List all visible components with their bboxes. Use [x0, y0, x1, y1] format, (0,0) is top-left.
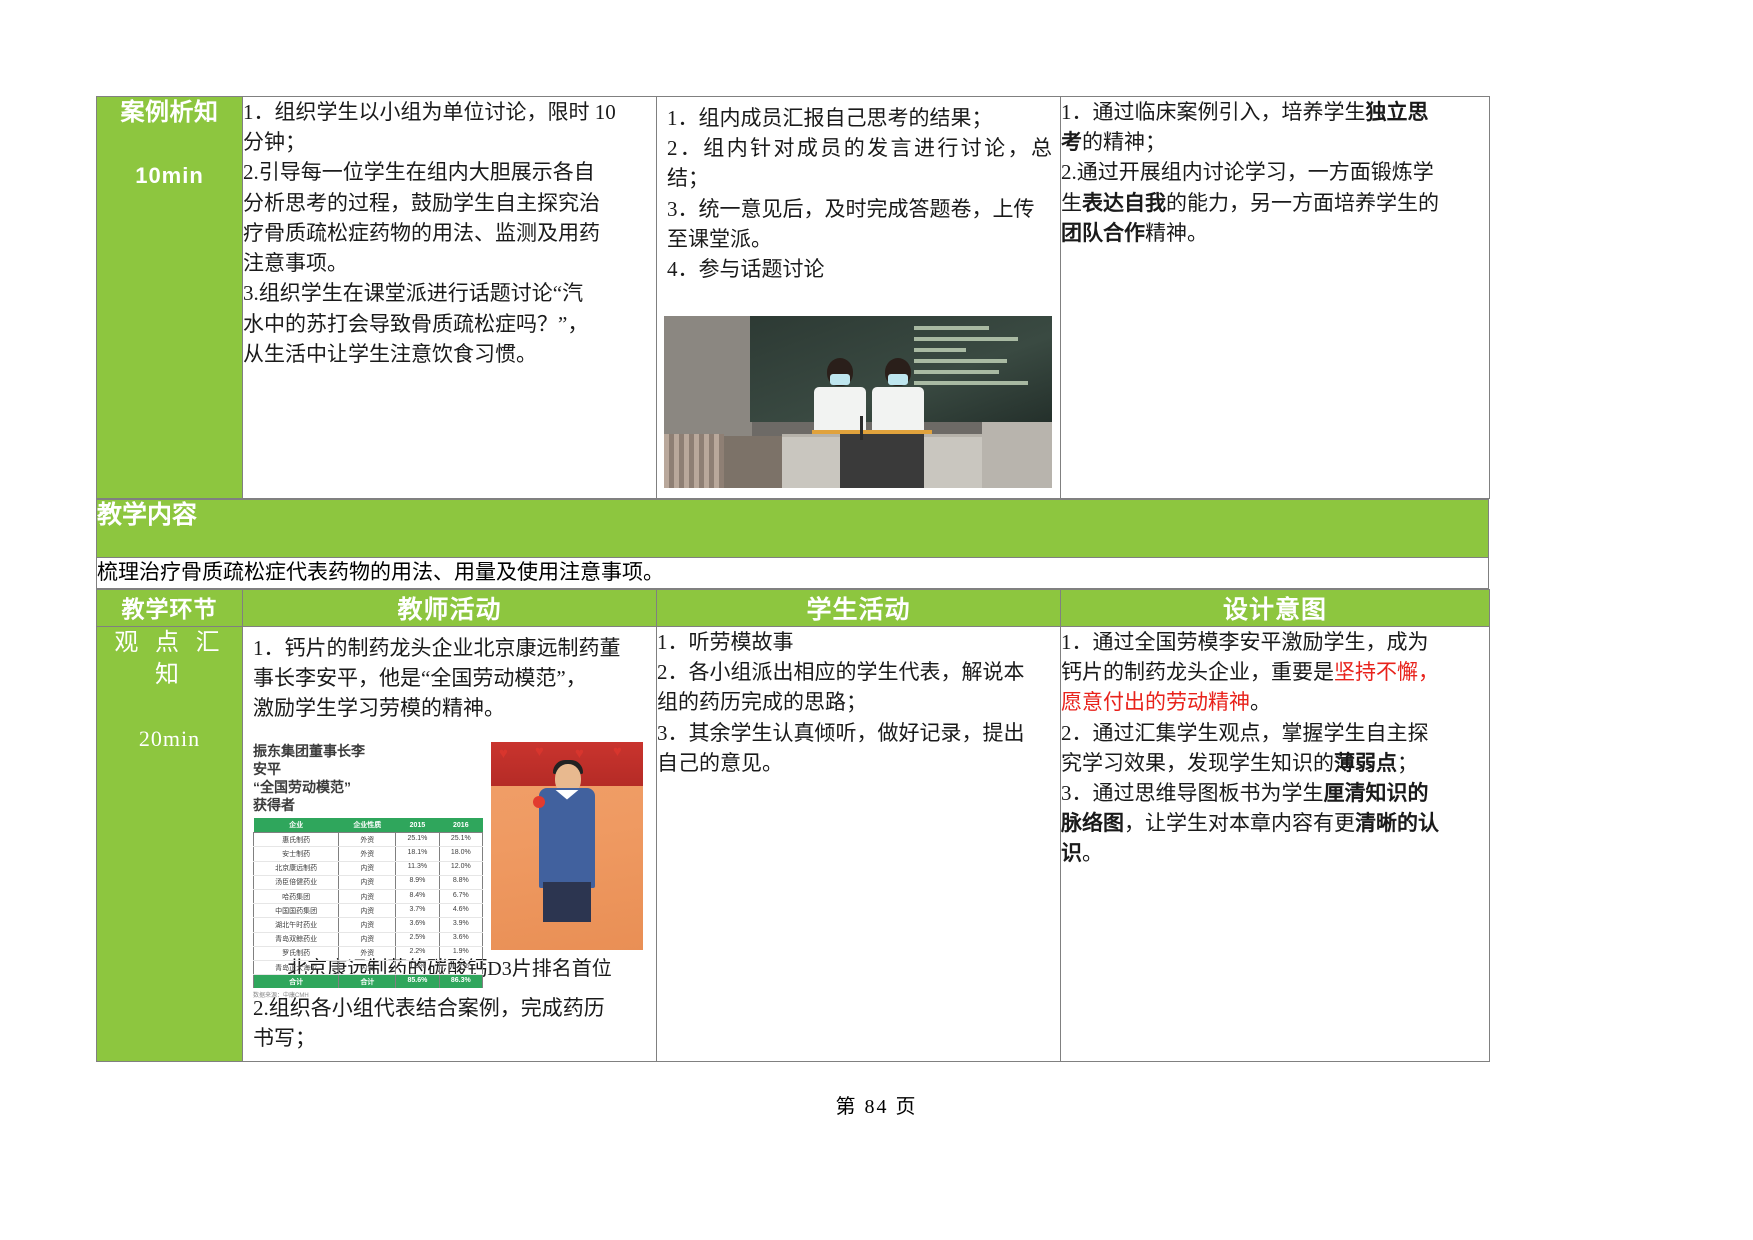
design-intent-line: 1．通过全国劳模李安平激励学生，成为	[1061, 627, 1489, 657]
teaching-content-body: 梳理治疗骨质疏松症代表药物的用法、用量及使用注意事项。	[97, 558, 1489, 588]
student-activity-line: 4．参与话题讨论	[667, 254, 1052, 284]
teacher-activity-cell: 1．钙片的制药龙头企业北京康远制药董 事长李安平，他是“全国劳动模范”， 激励学…	[243, 626, 657, 1061]
student-activity-cell: 1．组内成员汇报自己思考的结果； 2．组内针对成员的发言进行讨论，总结； 3．统…	[657, 97, 1061, 499]
student-activity-line: 1．听劳模故事	[657, 627, 1060, 657]
stage-cell-viewpoint: 观 点 汇 知 20min	[97, 626, 243, 1061]
column-header-intent: 设计意图	[1061, 589, 1490, 626]
design-intent-text: 精神。	[1145, 221, 1208, 245]
photo-wall	[664, 316, 752, 448]
design-intent-emphasis: 表达自我	[1082, 191, 1166, 215]
market-share-cell: 1.6%	[396, 960, 439, 974]
portrait-suit	[539, 788, 595, 888]
market-share-cell: 1.7%	[439, 960, 482, 974]
market-share-row: 哈药集团内资8.4%6.7%	[254, 890, 483, 904]
photo-screen-text	[914, 326, 1044, 392]
photo-microphone	[860, 416, 863, 440]
market-share-body: 惠氏制药外资25.1%25.1%安士制药外资18.1%18.0%北京康远制药内资…	[254, 833, 483, 989]
design-intent-line: 钙片的制药龙头企业，重要是坚持不懈，	[1061, 657, 1489, 687]
teacher-activity-text: 1．钙片的制药龙头企业北京康远制药董 事长李安平，他是“全国劳动模范”， 激励学…	[243, 627, 656, 732]
heart-icon: ♥	[499, 748, 513, 761]
design-intent-text: 的精神；	[1082, 130, 1166, 154]
design-intent-line: 2.通过开展组内讨论学习，一方面锻炼学	[1061, 157, 1489, 187]
figure-heading-line: 安平	[253, 760, 483, 778]
design-intent-emphasis: 脉络图	[1061, 811, 1124, 835]
table-row: 案例析知 10min 1．组织学生以小组为单位讨论，限时 10 分钟； 2.引导…	[97, 97, 1490, 499]
teacher-activity-line: 水中的苏打会导致骨质疏松症吗？”，	[243, 309, 656, 339]
design-intent-cell: 1．通过全国劳模李安平激励学生，成为 钙片的制药龙头企业，重要是坚持不懈， 愿意…	[1061, 626, 1490, 1061]
figure-portrait: ♥ ♥ ♥ ♥	[491, 742, 643, 950]
design-intent-line: 1．通过临床案例引入，培养学生独立思	[1061, 97, 1489, 127]
market-share-cell: 外资	[339, 847, 396, 861]
teaching-content-section: 教学内容 梳理治疗骨质疏松症代表药物的用法、用量及使用注意事项。	[96, 499, 1489, 588]
design-intent-text: ；	[1397, 751, 1418, 775]
table-header-row: 企业企业性质20152016	[254, 818, 483, 833]
design-intent-text: 3．通过思维导图板书为学生	[1061, 781, 1324, 805]
design-intent-text: 的能力，另一方面培养学生的	[1166, 191, 1439, 215]
figure-heading-line: “全国劳动模范”	[253, 778, 483, 796]
classroom-photo	[664, 316, 1052, 488]
market-share-cell: 8.8%	[439, 875, 482, 889]
design-intent-text: ，让学生对本章内容有更	[1124, 811, 1355, 835]
design-intent-text: 生	[1061, 191, 1082, 215]
market-share-col-header: 企业性质	[339, 818, 396, 833]
design-intent-line: 识。	[1061, 838, 1489, 868]
market-share-cell: 内资	[339, 918, 396, 932]
photo-student-left	[814, 358, 866, 436]
figure-body: 振东集团董事长李 安平 “全国劳动模范” 获得者 企业企业性质20152016	[253, 742, 645, 950]
design-intent-highlight: 愿意付出的劳动精神	[1061, 690, 1250, 714]
lesson-table-bottom: 教学环节 教师活动 学生活动 设计意图 观 点 汇 知 20min 1．钙片的制…	[96, 589, 1490, 1062]
stage-title: 案例析知	[97, 97, 242, 129]
heart-icon: ♥	[535, 746, 549, 759]
teacher-activity-line: 2.引导每一位学生在组内大胆展示各自	[243, 157, 656, 187]
market-share-cell: 1.9%	[439, 946, 482, 960]
student-activity-line: 3．其余学生认真倾听，做好记录，提出	[657, 718, 1060, 748]
market-share-cell: 内资	[339, 904, 396, 918]
market-share-cell: 8.4%	[396, 890, 439, 904]
market-share-cell: 内资	[339, 890, 396, 904]
design-intent-line: 团队合作精神。	[1061, 218, 1489, 248]
market-share-cell: 3.6%	[439, 932, 482, 946]
market-share-total-row: 合计合计85.6%86.3%	[254, 975, 483, 989]
market-share-cell: 哈药集团	[254, 890, 339, 904]
market-share-total-cell: 86.3%	[439, 975, 482, 989]
teacher-activity-line: 激励学生学习劳模的精神。	[253, 693, 648, 723]
design-intent-line: 考的精神；	[1061, 127, 1489, 157]
photo-side-furniture	[982, 422, 1052, 488]
design-intent-emphasis: 厘清知识的	[1324, 781, 1429, 805]
figure-source-note: 数据来源：中康CMH	[253, 990, 483, 999]
market-share-cell: 11.3%	[396, 861, 439, 875]
market-share-cell: 湖北午时药业	[254, 918, 339, 932]
photo-curtain	[664, 434, 724, 488]
figure-laomo: 振东集团董事长李 安平 “全国劳动模范” 获得者 企业企业性质20152016	[243, 732, 656, 987]
teacher-activity-line: 1．钙片的制药龙头企业北京康远制药董	[253, 633, 648, 663]
table-row: 梳理治疗骨质疏松症代表药物的用法、用量及使用注意事项。	[97, 558, 1489, 588]
student-activity-line: 2．组内针对成员的发言进行讨论，总结；	[667, 133, 1052, 193]
photo-student-right	[872, 358, 924, 436]
student-activity-line: 2．各小组派出相应的学生代表，解说本	[657, 657, 1060, 687]
market-share-cell: 罗氏制药	[254, 946, 339, 960]
table-header-row: 教学环节 教师活动 学生活动 设计意图	[97, 589, 1490, 626]
heart-icon: ♥	[613, 746, 627, 759]
market-share-cell: 25.1%	[439, 833, 482, 847]
student-activity-text: 1．组内成员汇报自己思考的结果； 2．组内针对成员的发言进行讨论，总结； 3．统…	[657, 97, 1060, 292]
teacher-activity-line: 分钟；	[243, 127, 656, 157]
market-share-cell: 汤臣倍健药业	[254, 875, 339, 889]
market-share-cell: 惠氏制药	[254, 833, 339, 847]
market-share-cell: 25.1%	[396, 833, 439, 847]
market-share-row: 青岛正大海尔内资1.6%1.7%	[254, 960, 483, 974]
market-share-col-header: 企业	[254, 818, 339, 833]
column-header-teacher: 教师活动	[243, 589, 657, 626]
page-footer: 第 84 页	[0, 1090, 1753, 1119]
design-intent-emphasis: 团队合作	[1061, 221, 1145, 245]
market-share-cell: 中国国药集团	[254, 904, 339, 918]
market-share-cell: 内资	[339, 932, 396, 946]
student-activity-line: 至课堂派。	[667, 224, 1052, 254]
design-intent-emphasis: 识	[1061, 841, 1082, 865]
teacher-activity-line: 疗骨质疏松症药物的用法、监测及用药	[243, 218, 656, 248]
teacher-activity-cell: 1．组织学生以小组为单位讨论，限时 10 分钟； 2.引导每一位学生在组内大胆展…	[243, 97, 657, 499]
market-share-row: 惠氏制药外资25.1%25.1%	[254, 833, 483, 847]
design-intent-emphasis: 独立思	[1366, 100, 1429, 124]
market-share-cell: 内资	[339, 861, 396, 875]
market-share-row: 罗氏制药外资2.2%1.9%	[254, 946, 483, 960]
figure-heading: 振东集团董事长李 安平 “全国劳动模范” 获得者	[253, 742, 483, 815]
market-share-row: 安士制药外资18.1%18.0%	[254, 847, 483, 861]
design-intent-text: 。	[1250, 690, 1271, 714]
market-share-col-header: 2015	[396, 818, 439, 833]
design-intent-line: 3．通过思维导图板书为学生厘清知识的	[1061, 778, 1489, 808]
market-share-cell: 北京康远制药	[254, 861, 339, 875]
market-share-cell: 18.1%	[396, 847, 439, 861]
figure-heading-line: 振东集团董事长李	[253, 742, 483, 760]
design-intent-line: 生表达自我的能力，另一方面培养学生的	[1061, 188, 1489, 218]
page-sheet: 案例析知 10min 1．组织学生以小组为单位讨论，限时 10 分钟； 2.引导…	[96, 96, 1489, 1062]
market-share-row: 湖北午时药业内资3.6%3.9%	[254, 918, 483, 932]
teacher-activity-line: 分析思考的过程，鼓励学生自主探究治	[243, 188, 656, 218]
market-share-row: 北京康远制药内资11.3%12.0%	[254, 861, 483, 875]
figure-table-area: 振东集团董事长李 安平 “全国劳动模范” 获得者 企业企业性质20152016	[253, 742, 483, 950]
market-share-cell: 4.6%	[439, 904, 482, 918]
column-header-stage: 教学环节	[97, 589, 243, 626]
market-share-row: 汤臣倍健药业内资8.9%8.8%	[254, 875, 483, 889]
portrait-flower	[533, 796, 545, 808]
student-activity-line: 自己的意见。	[657, 748, 1060, 778]
column-header-student: 学生活动	[657, 589, 1061, 626]
design-intent-line: 究学习效果，发现学生知识的薄弱点；	[1061, 748, 1489, 778]
design-intent-emphasis: 清晰的认	[1355, 811, 1439, 835]
market-share-col-header: 2016	[439, 818, 482, 833]
market-share-total-cell: 85.6%	[396, 975, 439, 989]
teacher-activity-line: 3.组织学生在课堂派进行话题讨论“汽	[243, 278, 656, 308]
market-share-cell: 青岛双鲸药业	[254, 932, 339, 946]
teacher-activity-line: 从生活中让学生注意饮食习惯。	[243, 339, 656, 369]
teacher-activity-line: 注意事项。	[243, 248, 656, 278]
design-intent-text: 1．通过临床案例引入，培养学生	[1061, 100, 1366, 124]
stage-duration: 10min	[97, 163, 242, 189]
market-share-cell: 8.9%	[396, 875, 439, 889]
design-intent-emphasis: 薄弱点	[1334, 751, 1397, 775]
market-share-total-cell: 合计	[254, 975, 339, 989]
market-share-cell: 12.0%	[439, 861, 482, 875]
figure-heading-line: 获得者	[253, 796, 483, 814]
design-intent-line: 脉络图，让学生对本章内容有更清晰的认	[1061, 808, 1489, 838]
student-activity-line: 组的药历完成的思路；	[657, 687, 1060, 717]
market-share-cell: 外资	[339, 833, 396, 847]
table-row: 观 点 汇 知 20min 1．钙片的制药龙头企业北京康远制药董 事长李安平，他…	[97, 626, 1490, 1061]
design-intent-line: 2．通过汇集学生观点，掌握学生自主探	[1061, 718, 1489, 748]
design-intent-line: 愿意付出的劳动精神。	[1061, 687, 1489, 717]
heart-icon: ♥	[575, 748, 589, 761]
student-activity-cell: 1．听劳模故事 2．各小组派出相应的学生代表，解说本 组的药历完成的思路； 3．…	[657, 626, 1061, 1061]
document-page: 案例析知 10min 1．组织学生以小组为单位讨论，限时 10 分钟； 2.引导…	[0, 0, 1753, 1240]
teacher-activity-line: 事长李安平，他是“全国劳动模范”，	[253, 663, 648, 693]
market-share-cell: 内资	[339, 960, 396, 974]
market-share-cell: 青岛正大海尔	[254, 960, 339, 974]
design-intent-emphasis: 考	[1061, 130, 1082, 154]
market-share-cell: 18.0%	[439, 847, 482, 861]
design-intent-text: 究学习效果，发现学生知识的	[1061, 751, 1334, 775]
market-share-cell: 3.7%	[396, 904, 439, 918]
market-share-cell: 2.5%	[396, 932, 439, 946]
lesson-table-top: 案例析知 10min 1．组织学生以小组为单位讨论，限时 10 分钟； 2.引导…	[96, 96, 1490, 499]
teacher-activity-line: 1．组织学生以小组为单位讨论，限时 10	[243, 97, 656, 127]
market-share-row: 青岛双鲸药业内资2.5%3.6%	[254, 932, 483, 946]
market-share-cell: 6.7%	[439, 890, 482, 904]
market-share-cell: 安士制药	[254, 847, 339, 861]
market-share-total-cell: 合计	[339, 975, 396, 989]
market-share-head: 企业企业性质20152016	[254, 818, 483, 833]
photo-podium-panel	[840, 434, 924, 488]
teaching-content-band: 教学内容	[97, 500, 1489, 558]
market-share-table: 企业企业性质20152016 惠氏制药外资25.1%25.1%安士制药外资18.…	[253, 818, 483, 988]
design-intent-text: 。	[1082, 841, 1103, 865]
classroom-photo-wrapper	[657, 292, 1060, 498]
portrait-legs	[543, 882, 591, 922]
market-share-cell: 3.6%	[396, 918, 439, 932]
stage-cell-case-analysis: 案例析知 10min	[97, 97, 243, 499]
market-share-cell: 3.9%	[439, 918, 482, 932]
stage-title: 观 点 汇 知	[97, 627, 242, 692]
design-intent-cell: 1．通过临床案例引入，培养学生独立思 考的精神； 2.通过开展组内讨论学习，一方…	[1061, 97, 1490, 499]
student-activity-line: 1．组内成员汇报自己思考的结果；	[667, 103, 1052, 133]
table-row: 教学内容	[97, 500, 1489, 558]
market-share-row: 中国国药集团内资3.7%4.6%	[254, 904, 483, 918]
teacher-activity-line: 书写；	[253, 1023, 648, 1053]
market-share-cell: 外资	[339, 946, 396, 960]
design-intent-text: 钙片的制药龙头企业，重要是	[1061, 660, 1334, 684]
stage-duration: 20min	[97, 726, 242, 752]
market-share-cell: 内资	[339, 875, 396, 889]
design-intent-highlight: 坚持不懈，	[1334, 660, 1439, 684]
market-share-cell: 2.2%	[396, 946, 439, 960]
student-activity-line: 3．统一意见后，及时完成答题卷，上传	[667, 194, 1052, 224]
